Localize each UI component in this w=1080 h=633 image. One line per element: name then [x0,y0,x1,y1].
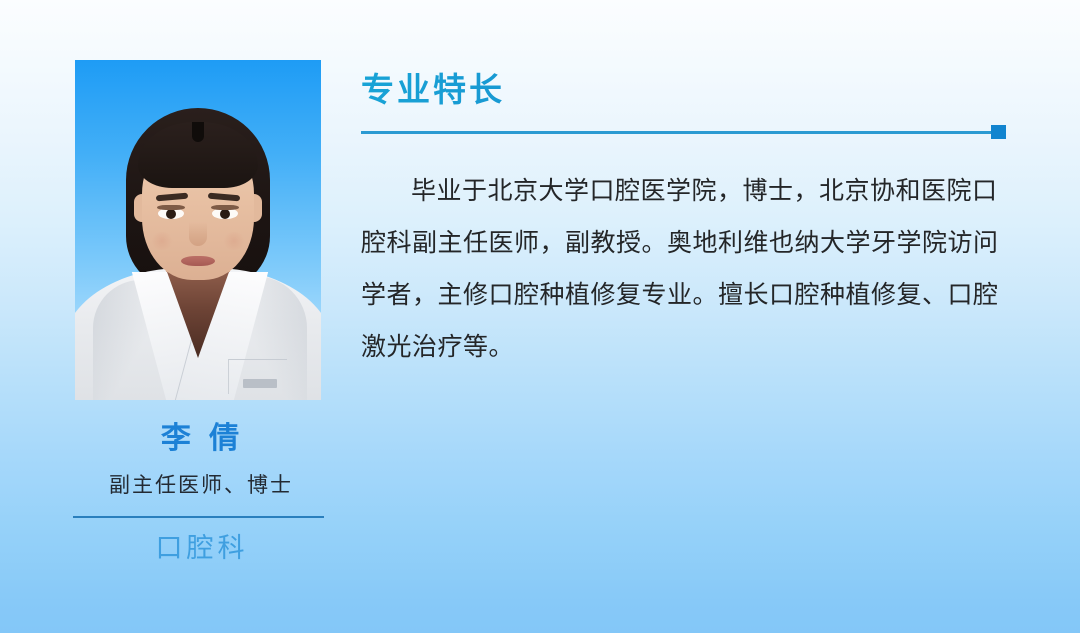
section-title-rule-line [361,131,993,134]
portrait-cheek-left [150,232,174,250]
portrait-hair-part [192,122,204,142]
doctor-job-title: 副主任医师、博士 [56,475,344,496]
section-title-rule-endcap [991,125,1006,139]
portrait-coat-pocket [228,359,287,394]
portrait-eyelid-right [211,205,239,210]
section-title-rule [361,125,1011,139]
doctor-profile-card: 李 倩 副主任医师、博士 口腔科 专业特长 毕业于北京大学口腔医学院，博士，北京… [0,0,1080,633]
specialty-body-text: 毕业于北京大学口腔医学院，博士，北京协和医院口腔科副主任医师，副教授。奥地利维也… [361,165,1011,373]
portrait-nose [189,222,207,246]
specialty-section: 专业特长 毕业于北京大学口腔医学院，博士，北京协和医院口腔科副主任医师，副教授。… [361,72,1011,373]
doctor-portrait-photo [75,60,321,400]
portrait-eyelid-left [157,205,185,210]
doctor-department: 口腔科 [56,535,344,562]
doctor-name: 李 倩 [56,424,344,454]
doctor-identity-column: 李 倩 副主任医师、博士 口腔科 [56,52,344,582]
section-title: 专业特长 [361,72,1011,108]
portrait-pupil-right [220,209,230,219]
identity-divider [73,516,324,518]
portrait-mouth [181,256,215,266]
portrait-pupil-left [166,209,176,219]
portrait-coat-badge [243,379,277,388]
portrait-cheek-right [222,232,246,250]
